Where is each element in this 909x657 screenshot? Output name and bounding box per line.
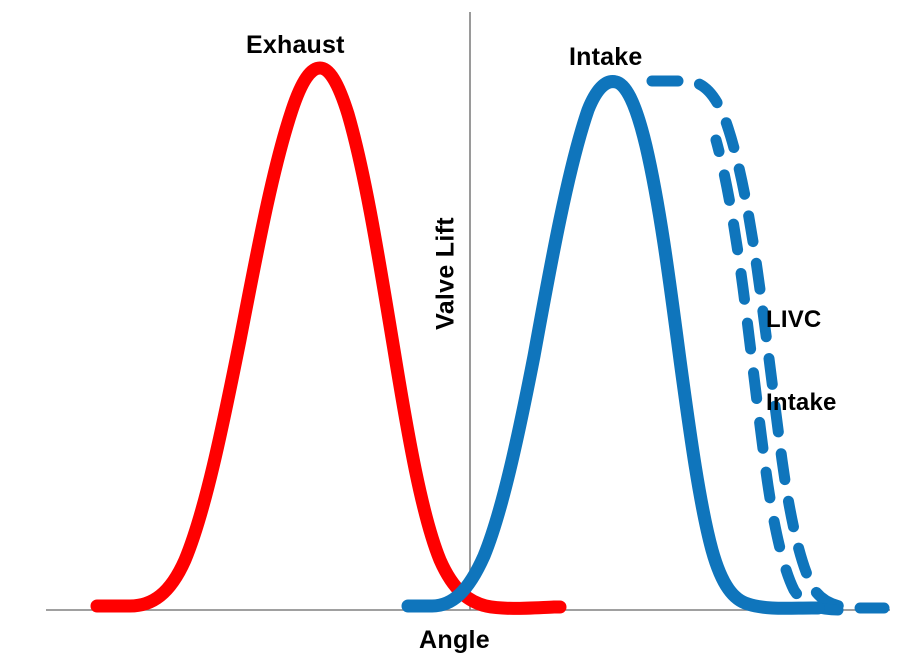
- series-label-exhaust: Exhaust: [246, 31, 345, 60]
- y-axis-title: Valve Lift: [432, 194, 461, 354]
- x-axis-title: Angle: [0, 626, 909, 655]
- valve-lift-chart: Exhaust Intake LIVC Intake Angle Valve L…: [0, 0, 909, 657]
- series-label-livc-line1: LIVC: [766, 306, 837, 334]
- series-label-intake: Intake: [569, 43, 642, 72]
- series-label-livc-intake: LIVC Intake: [766, 250, 837, 473]
- series-label-livc-line2: Intake: [766, 389, 837, 417]
